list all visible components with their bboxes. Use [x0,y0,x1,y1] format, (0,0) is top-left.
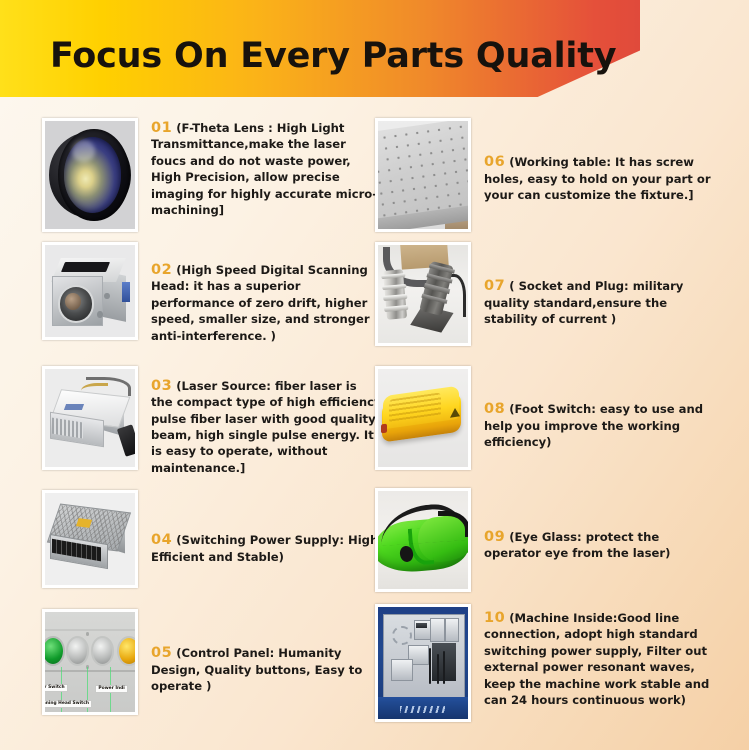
feature-item-10: 10 (Machine Inside:Good line connection,… [375,604,715,734]
feature-text-08: 08 (Foot Switch: easy to use and help yo… [471,399,715,450]
laser-source-photo [45,369,135,467]
feature-item-04: 04 (Switching Power Supply: High Efficie… [42,490,382,605]
feature-description-09: (Eye Glass: protect the operator eye fro… [484,530,670,560]
right-column: 06 (Working table: It has screw holes, e… [375,118,715,738]
working-table-photo [378,121,468,229]
switching-power-supply-photo [45,493,135,585]
feature-text-01: 01 (F-Theta Lens : High Light Transmitta… [138,118,382,218]
feature-description-06: (Working table: It has screw holes, easy… [484,155,711,202]
thumbnail-frame-05: r Switch Power Indi nning Head Switch [42,609,138,715]
feature-item-05: r Switch Power Indi nning Head Switch 05… [42,609,382,729]
feature-text-06: 06 (Working table: It has screw holes, e… [471,152,715,203]
feature-text-07: 07 ( Socket and Plug: military quality s… [471,276,715,327]
foot-switch-photo [378,369,468,467]
feature-number-01: 01 [151,120,172,136]
machine-inside-photo [378,607,468,719]
feature-item-07: 07 ( Socket and Plug: military quality s… [375,242,715,362]
panel-button-green [45,638,63,664]
left-column: 01 (F-Theta Lens : High Light Transmitta… [42,118,382,733]
feature-description-04: (Switching Power Supply: High Efficient … [151,533,378,563]
thumbnail-frame-09 [375,488,471,592]
warning-triangle-icon [450,407,460,417]
thumbnail-frame-03 [42,366,138,470]
panel-label-3: nning Head Switch [45,700,92,708]
feature-number-08: 08 [484,401,505,417]
thumbnail-frame-02 [42,242,138,340]
feature-text-02: 02 (High Speed Digital Scanning Head: it… [138,260,382,344]
feature-description-02: (High Speed Digital Scanning Head: it ha… [151,263,370,343]
thumbnail-frame-08 [375,366,471,470]
thumbnail-frame-06 [375,118,471,232]
feature-item-03: 03 (Laser Source: fiber laser is the com… [42,366,382,486]
feature-description-10: (Machine Inside:Good line connection, ad… [484,611,709,707]
panel-button-silver-1 [68,638,88,664]
feature-description-07: ( Socket and Plug: military quality stan… [484,279,683,326]
feature-text-05: 05 (Control Panel: Humanity Design, Qual… [138,643,382,694]
feature-number-04: 04 [151,532,172,548]
panel-button-silver-2 [93,638,113,664]
panel-label-1: r Switch [45,684,68,692]
feature-description-05: (Control Panel: Humanity Design, Quality… [151,646,362,693]
feature-description-01: (F-Theta Lens : High Light Transmittance… [151,121,377,217]
feature-item-08: 08 (Foot Switch: easy to use and help yo… [375,366,715,484]
eye-glass-photo [378,491,468,589]
feature-description-08: (Foot Switch: easy to use and help you i… [484,402,703,449]
f-theta-lens-photo [45,121,135,229]
feature-number-07: 07 [484,278,505,294]
panel-button-yellow [119,638,135,664]
feature-text-10: 10 (Machine Inside:Good line connection,… [471,604,715,708]
poster-page: Focus On Every Parts Quality 01 (F-Theta… [0,0,749,750]
feature-item-02: 02 (High Speed Digital Scanning Head: it… [42,242,382,362]
socket-and-plug-photo [378,245,468,343]
feature-text-04: 04 (Switching Power Supply: High Efficie… [138,530,382,565]
feature-description-03: (Laser Source: fiber laser is the compac… [151,379,382,475]
feature-number-05: 05 [151,645,172,661]
thumbnail-frame-10 [375,604,471,722]
control-panel-photo: r Switch Power Indi nning Head Switch [45,612,135,712]
scanning-head-photo [45,245,135,337]
feature-text-09: 09 (Eye Glass: protect the operator eye … [471,527,715,562]
panel-label-2: Power Indi [95,685,127,693]
feature-number-02: 02 [151,262,172,278]
feature-number-03: 03 [151,378,172,394]
feature-number-09: 09 [484,529,505,545]
page-title: Focus On Every Parts Quality [50,36,616,76]
thumbnail-frame-04 [42,490,138,588]
feature-item-01: 01 (F-Theta Lens : High Light Transmitta… [42,118,382,238]
feature-item-06: 06 (Working table: It has screw holes, e… [375,118,715,238]
feature-number-06: 06 [484,154,505,170]
thumbnail-frame-01 [42,118,138,232]
feature-number-10: 10 [484,610,505,626]
feature-item-09: 09 (Eye Glass: protect the operator eye … [375,488,715,600]
feature-text-03: 03 (Laser Source: fiber laser is the com… [138,376,382,476]
thumbnail-frame-07 [375,242,471,346]
